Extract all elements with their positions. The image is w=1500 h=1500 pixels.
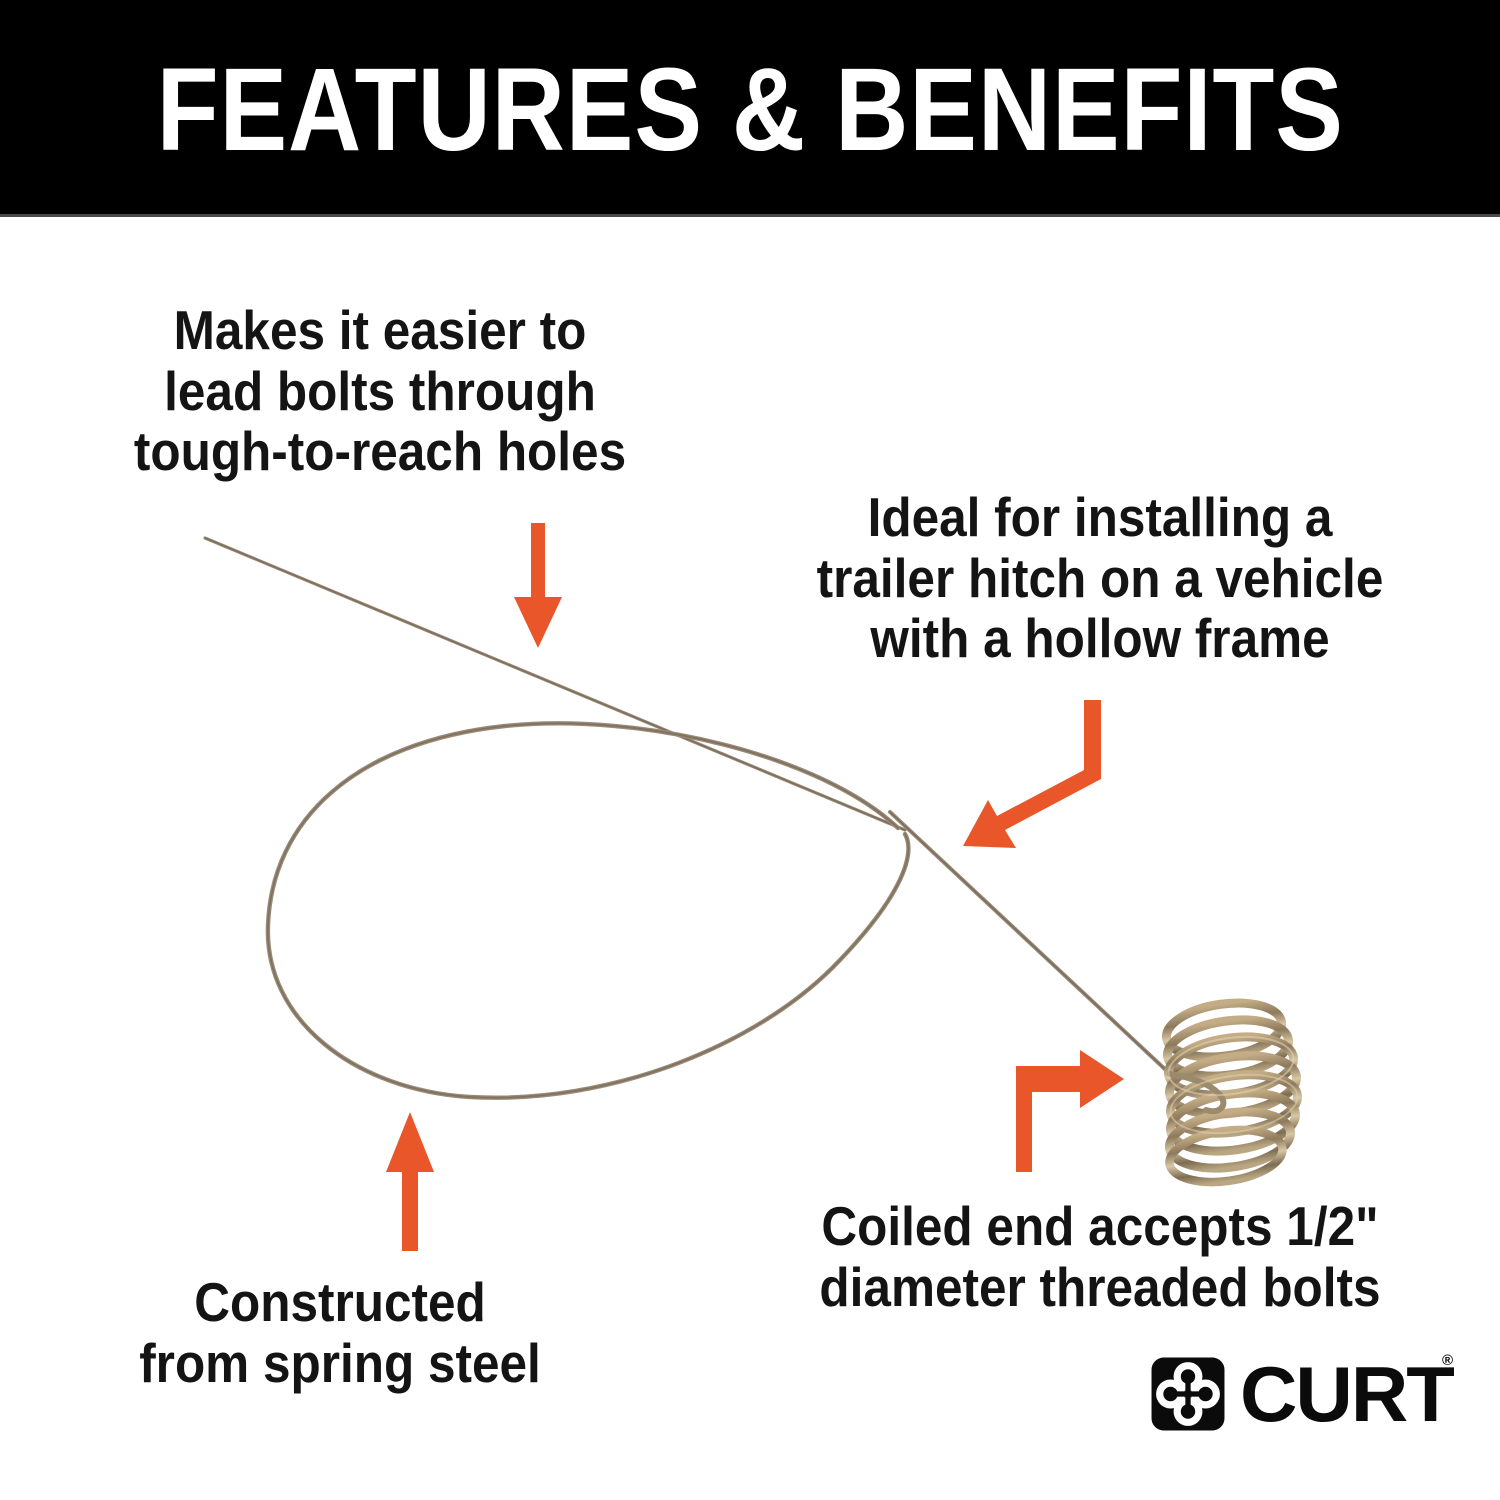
arrow-bent-up-right-icon [1016,1050,1124,1172]
callout-spring-steel: Constructed from spring steel [61,1272,619,1393]
arrow-up-icon [386,1112,434,1251]
callout-coiled-end: Coiled end accepts 1/2" diameter threade… [781,1196,1420,1317]
curt-wordmark: CURT [1240,1355,1453,1433]
arrow-bent-down-left-icon [963,700,1101,848]
infographic-page: FEATURES & BENEFITS [0,0,1500,1500]
registered-trademark-symbol: ® [1442,1352,1453,1369]
callout-makes-it-easier: Makes it easier to lead bolts through to… [92,300,668,482]
callout-ideal-for-installing: Ideal for installing a trailer hitch on … [781,487,1420,669]
curt-clover-mark-icon [1150,1356,1226,1432]
curt-logo: CURT [1150,1348,1455,1440]
arrow-down-icon [514,523,562,648]
